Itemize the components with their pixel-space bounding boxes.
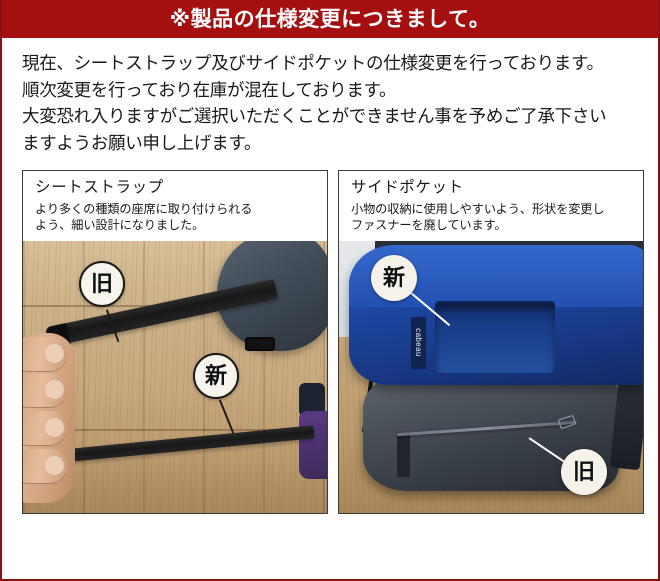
header-banner: ※製品の仕様変更につきまして。 — [0, 0, 660, 38]
brand-tag: cabeau — [411, 317, 426, 369]
callout-label-old: 旧 — [91, 273, 113, 295]
fingernail — [45, 344, 64, 363]
open-side-pocket — [435, 301, 555, 373]
fingernail — [45, 456, 64, 475]
intro-line-1: 現在、シートストラップ及びサイドポケットの仕様変更を行っております。 — [22, 50, 640, 77]
panel-side-pocket-desc-2: ファスナーを廃しています。 — [351, 217, 633, 233]
strap-buckle — [245, 337, 275, 351]
callout-badge-new: 新 — [371, 255, 417, 301]
intro-line-4: ますようお願い申し上げます。 — [22, 130, 640, 157]
panel-seat-strap-desc-1: より多くの種類の座席に取り付けられる — [35, 201, 317, 217]
photo-seat-strap: 旧 新 — [23, 241, 327, 513]
panel-side-pocket-title: サイドポケット — [351, 179, 633, 198]
page-title: ※製品の仕様変更につきまして。 — [170, 9, 491, 30]
fingernail — [45, 380, 64, 399]
intro-line-3: 大変恐れ入りますがご選択いただくことができません事を予めご了承下さい — [22, 103, 640, 130]
panel-side-pocket: サイドポケット 小物の収納に使用しやすいよう、形状を変更し ファスナーを廃してい… — [338, 170, 644, 514]
panel-seat-strap-desc-2: よう、細い設計になりました。 — [35, 217, 317, 233]
intro-line-2: 順次変更を行っており在庫が混在しております。 — [22, 77, 640, 104]
callout-badge-new: 新 — [193, 353, 239, 399]
brand-tag-gray — [397, 435, 410, 477]
callout-badge-old: 旧 — [561, 449, 607, 495]
intro-paragraph: 現在、シートストラップ及びサイドポケットの仕様変更を行っております。 順次変更を… — [2, 38, 658, 162]
comparison-panels: シートストラップ より多くの種類の座席に取り付けられる よう、細い設計になりまし… — [2, 162, 658, 514]
finger — [23, 449, 67, 483]
callout-badge-old: 旧 — [79, 261, 125, 307]
pocket-zipper — [397, 421, 577, 437]
panel-seat-strap-header: シートストラップ より多くの種類の座席に取り付けられる よう、細い設計になりまし… — [23, 171, 327, 241]
hand — [23, 333, 75, 503]
callout-label-new: 新 — [383, 267, 405, 289]
fingernail — [45, 418, 64, 437]
purple-object — [299, 411, 327, 479]
notice-page: ※製品の仕様変更につきまして。 現在、シートストラップ及びサイドポケットの仕様変… — [0, 0, 660, 581]
panel-seat-strap-title: シートストラップ — [35, 179, 317, 198]
finger — [23, 411, 67, 445]
finger — [23, 373, 67, 407]
photo-side-pocket: cabeau 新 旧 — [339, 241, 643, 513]
brand-tag-label: cabeau — [414, 329, 423, 358]
callout-label-new: 新 — [205, 365, 227, 387]
panel-seat-strap: シートストラップ より多くの種類の座席に取り付けられる よう、細い設計になりまし… — [22, 170, 328, 514]
panel-side-pocket-header: サイドポケット 小物の収納に使用しやすいよう、形状を変更し ファスナーを廃してい… — [339, 171, 643, 241]
panel-side-pocket-desc-1: 小物の収納に使用しやすいよう、形状を変更し — [351, 201, 633, 217]
callout-label-old: 旧 — [573, 461, 595, 483]
zipper-pull — [558, 415, 576, 429]
finger — [23, 337, 67, 371]
